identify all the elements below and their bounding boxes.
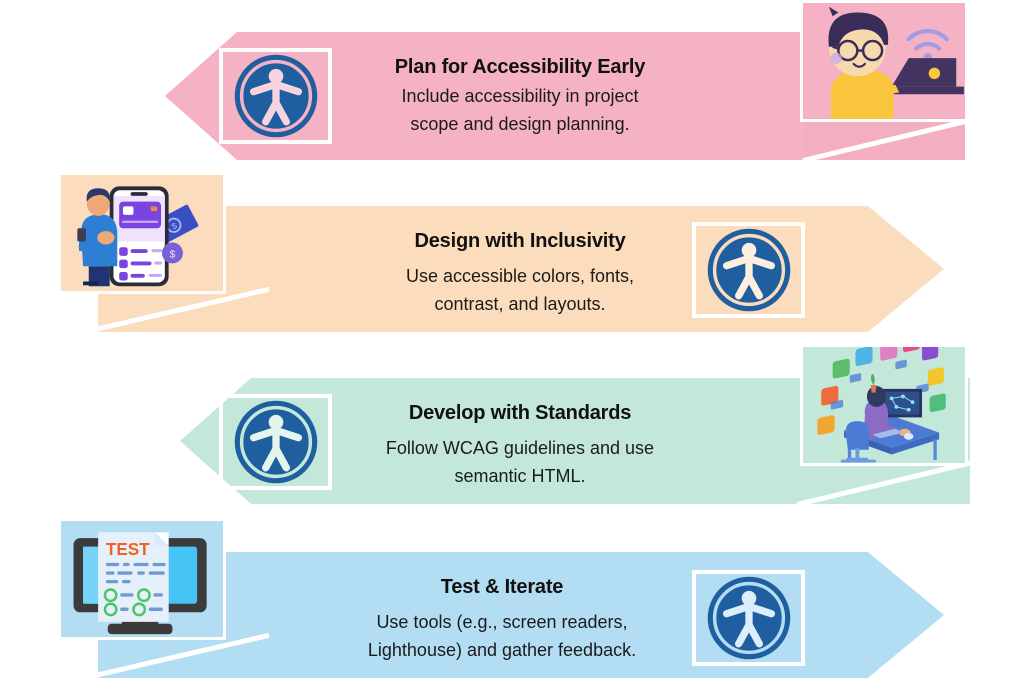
accessibility-badge-plan bbox=[219, 48, 332, 144]
ribbon-tail-plan bbox=[803, 118, 965, 160]
step-desc-line2-design: contrast, and layouts. bbox=[370, 290, 670, 318]
accessibility-icon bbox=[233, 53, 319, 139]
step-title-design: Design with Inclusivity bbox=[370, 228, 670, 254]
step-desc-line1-test: Use tools (e.g., screen readers, bbox=[322, 608, 682, 636]
step-text-plan: Plan for Accessibility Early Include acc… bbox=[355, 54, 685, 138]
test-label: TEST bbox=[106, 540, 150, 559]
accessibility-icon bbox=[706, 227, 792, 313]
test-report-on-monitor-illustration: TEST bbox=[61, 521, 223, 637]
step-image-card-design: $ bbox=[58, 172, 226, 294]
step-text-develop: Develop with Standards Follow WCAG guide… bbox=[355, 400, 685, 490]
step-title-test: Test & Iterate bbox=[322, 574, 682, 600]
ribbon-tail-develop bbox=[803, 462, 965, 504]
developer-at-desk-isometric-illustration bbox=[803, 347, 965, 463]
step-title-plan: Plan for Accessibility Early bbox=[355, 54, 685, 80]
svg-text:$: $ bbox=[170, 250, 176, 261]
step-desc-line2-develop: semantic HTML. bbox=[355, 462, 685, 490]
step-desc-line2-plan: scope and design planning. bbox=[355, 110, 685, 138]
accessibility-icon bbox=[233, 399, 319, 485]
accessibility-badge-develop bbox=[219, 394, 332, 490]
ribbon-tail-design bbox=[100, 290, 260, 332]
boy-with-laptop-wifi-illustration bbox=[803, 3, 965, 119]
step-image-card-develop bbox=[800, 344, 968, 466]
person-with-phone-payment-illustration: $ bbox=[61, 175, 223, 291]
step-desc-line1-develop: Follow WCAG guidelines and use bbox=[355, 434, 685, 462]
step-image-card-plan bbox=[800, 0, 968, 122]
step-desc-line2-test: Lighthouse) and gather feedback. bbox=[322, 636, 682, 664]
step-text-test: Test & Iterate Use tools (e.g., screen r… bbox=[322, 574, 682, 664]
accessibility-badge-design bbox=[692, 222, 805, 318]
infographic-canvas: Plan for Accessibility Early Include acc… bbox=[0, 0, 1024, 683]
step-image-card-test: TEST bbox=[58, 518, 226, 640]
step-desc-line1-design: Use accessible colors, fonts, bbox=[370, 262, 670, 290]
step-desc-line1-plan: Include accessibility in project bbox=[355, 82, 685, 110]
accessibility-badge-test bbox=[692, 570, 805, 666]
step-title-develop: Develop with Standards bbox=[355, 400, 685, 426]
step-text-design: Design with Inclusivity Use accessible c… bbox=[370, 228, 670, 318]
accessibility-icon bbox=[706, 575, 792, 661]
ribbon-tail-test bbox=[100, 636, 260, 678]
